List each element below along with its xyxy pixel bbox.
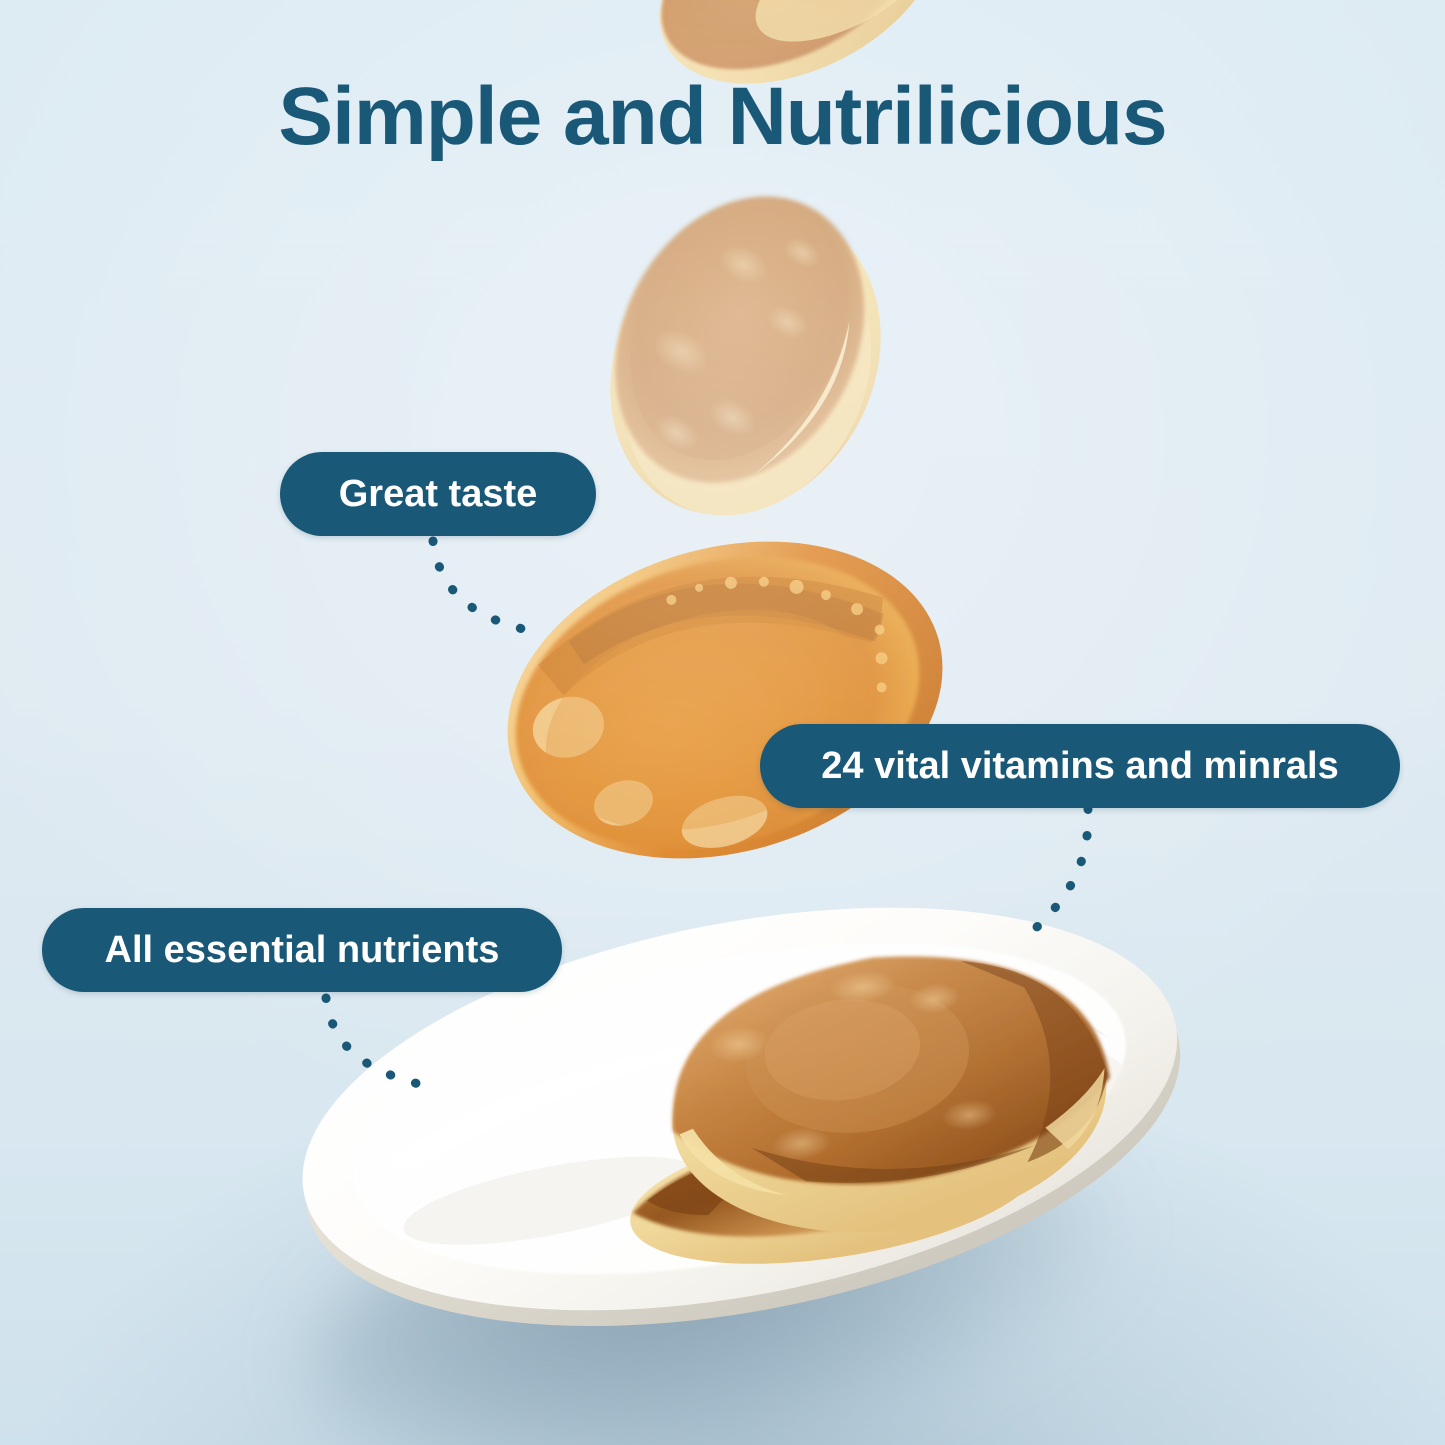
badge-nutrients[interactable]: All essential nutrients: [42, 908, 562, 992]
pancake-orange-image: [495, 535, 955, 865]
badge-great-taste-label: Great taste: [280, 475, 596, 513]
badge-nutrients-label: All essential nutrients: [42, 931, 562, 969]
page-title: Simple and Nutrilicious: [0, 74, 1445, 160]
promo-banner: Simple and Nutrilicious Great taste 24 v…: [0, 0, 1445, 1445]
badge-vitamins-label: 24 vital vitamins and minrals: [760, 747, 1400, 785]
badge-vitamins[interactable]: 24 vital vitamins and minrals: [760, 724, 1400, 808]
pancake-golden-tilted-image: [575, 165, 915, 530]
pancake-partial-top-image: [640, 0, 960, 72]
badge-great-taste[interactable]: Great taste: [280, 452, 596, 536]
